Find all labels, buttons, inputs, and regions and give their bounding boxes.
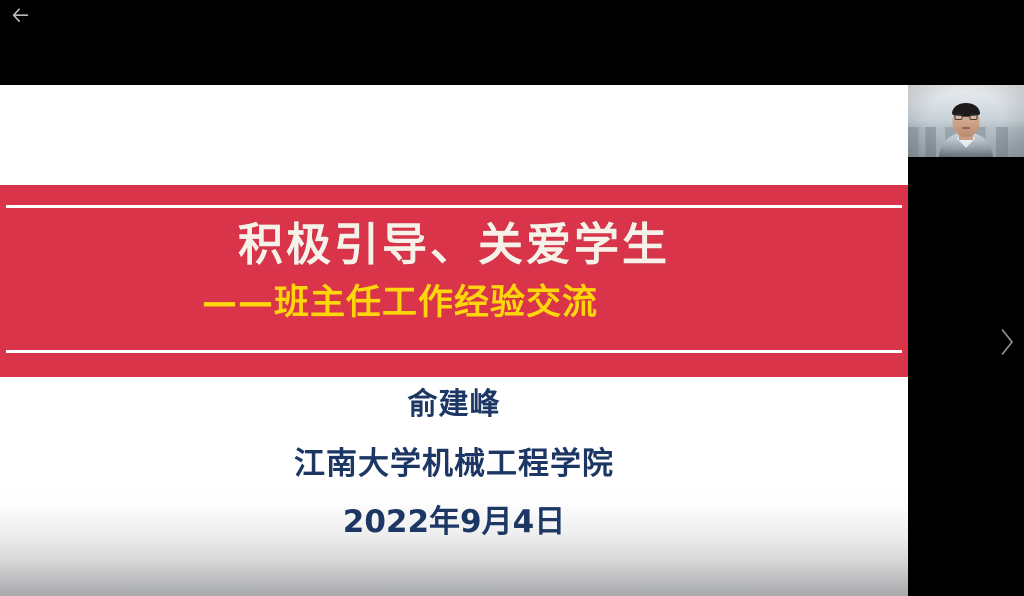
presentation-viewer: 积极引导、关爱学生 ——班主任工作经验交流 俞建峰 江南大学机械工程学院 202… <box>0 0 1024 596</box>
presenter-name: 俞建峰 <box>0 390 908 420</box>
back-button[interactable] <box>6 2 34 28</box>
slide-subtitle: ——班主任工作经验交流 <box>0 271 908 323</box>
webcam-vignette <box>908 85 1024 157</box>
banner-top-rule <box>6 205 902 208</box>
chevron-right-icon <box>1000 328 1015 356</box>
banner-text-group: 积极引导、关爱学生 ——班主任工作经验交流 <box>0 213 908 353</box>
presentation-date: 2022年9月4日 <box>0 507 908 538</box>
presenter-webcam-thumbnail[interactable] <box>908 85 1024 157</box>
slide-author-block: 俞建峰 江南大学机械工程学院 2022年9月4日 <box>0 390 908 538</box>
arrow-left-icon <box>12 8 29 23</box>
next-slide-button[interactable] <box>996 322 1018 362</box>
top-toolbar <box>0 0 1024 85</box>
slide-title: 积极引导、关爱学生 <box>0 213 908 271</box>
slide-title-banner: 积极引导、关爱学生 ——班主任工作经验交流 <box>0 185 908 377</box>
slide-stage[interactable]: 积极引导、关爱学生 ——班主任工作经验交流 俞建峰 江南大学机械工程学院 202… <box>0 85 908 596</box>
presenter-organization: 江南大学机械工程学院 <box>0 449 908 480</box>
